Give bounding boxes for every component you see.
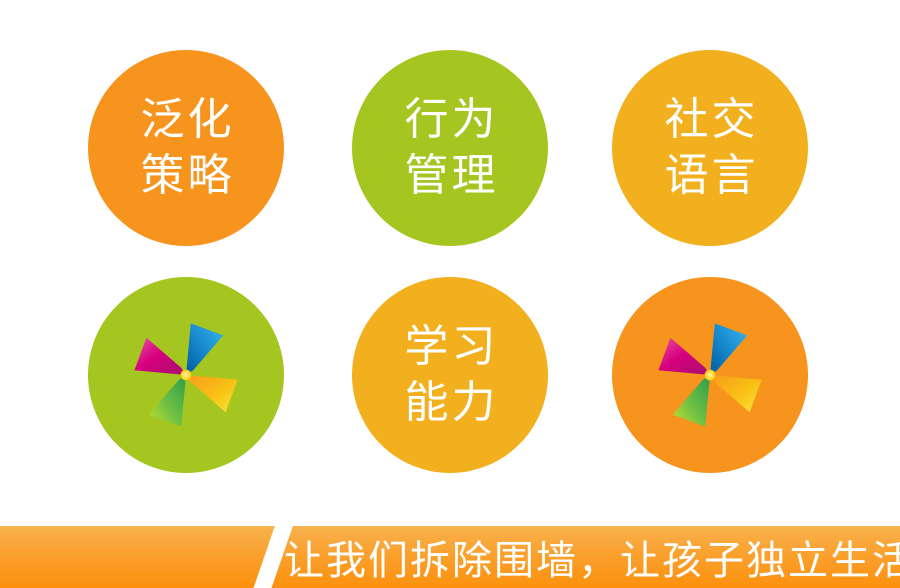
bubble-label-line-2: 语言 [662,148,759,204]
bubble-label-line-1: 行为 [402,92,499,148]
bottom-banner: 让我们拆除围墙，让孩子独立生活 [0,526,900,588]
bubble-behavior-management[interactable]: 行为 管理 [352,50,548,246]
bubble-label-line-2: 能力 [402,375,499,431]
banner-slogan: 让我们拆除围墙，让孩子独立生活 [284,526,900,588]
bubble-grid: 泛化 策略 行为 管理 社交 语言 [0,0,900,500]
bubble-label-line-1: 社交 [662,92,759,148]
pinwheel-icon [126,315,246,435]
bubble-learning-ability[interactable]: 学习 能力 [352,277,548,473]
bubble-label-line-1: 学习 [402,319,499,375]
bubble-pinwheel-green[interactable] [88,277,284,473]
bubble-label-line-2: 策略 [138,148,235,204]
bubble-social-language[interactable]: 社交 语言 [612,50,808,246]
bubble-generalization-strategy[interactable]: 泛化 策略 [88,50,284,246]
slide-canvas: 泛化 策略 行为 管理 社交 语言 [0,0,900,588]
bubble-label-line-1: 泛化 [138,92,235,148]
bubble-pinwheel-orange[interactable] [612,277,808,473]
bubble-label-line-2: 管理 [402,148,499,204]
pinwheel-icon [650,315,770,435]
